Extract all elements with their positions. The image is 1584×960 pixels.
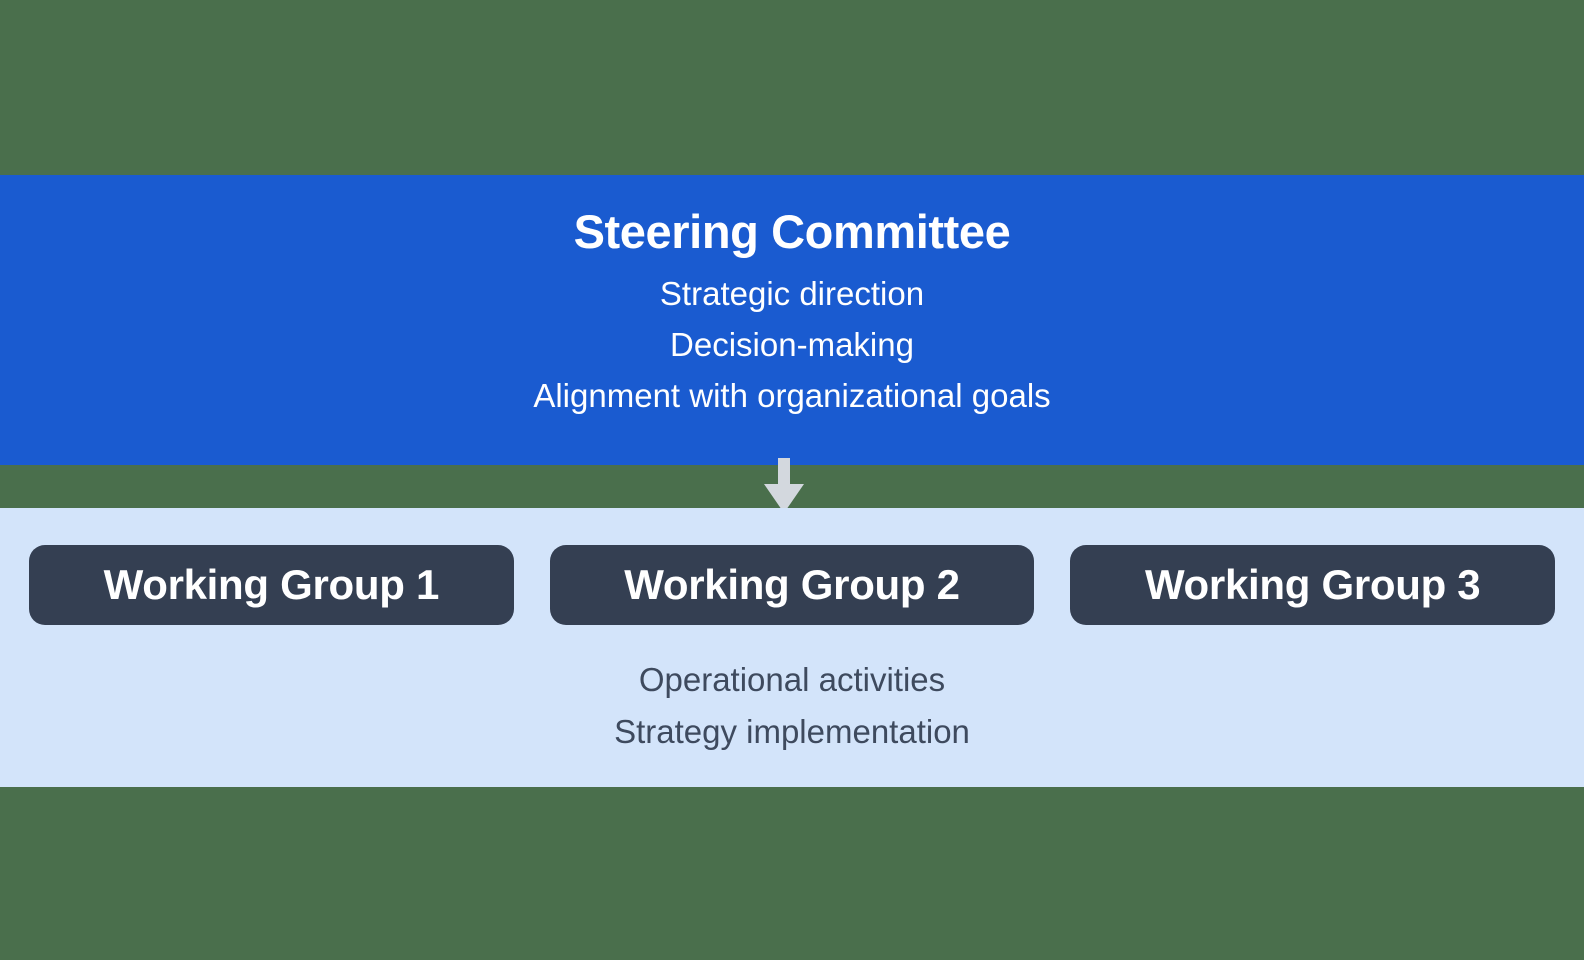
working-group-3-label: Working Group 3 — [1145, 564, 1480, 606]
working-group-responsibility-line: Operational activities — [639, 656, 945, 705]
steering-responsibility-line: Strategic direction — [660, 270, 924, 319]
arrow-down-icon — [763, 458, 805, 514]
working-group-responsibility-line: Strategy implementation — [614, 708, 970, 757]
working-group-2-box[interactable]: Working Group 2 — [550, 545, 1035, 625]
working-group-1-box[interactable]: Working Group 1 — [29, 545, 514, 625]
steering-responsibility-line: Decision-making — [670, 321, 914, 370]
working-group-2-label: Working Group 2 — [624, 564, 959, 606]
working-group-3-box[interactable]: Working Group 3 — [1070, 545, 1555, 625]
steering-responsibility-line: Alignment with organizational goals — [533, 372, 1050, 421]
working-groups-band: Working Group 1 Working Group 2 Working … — [0, 508, 1584, 787]
steering-committee-band: Steering Committee Strategic direction D… — [0, 175, 1584, 465]
working-groups-responsibilities: Operational activities Strategy implemen… — [0, 656, 1584, 757]
diagram-canvas: Steering Committee Strategic direction D… — [0, 0, 1584, 960]
steering-committee-responsibilities: Strategic direction Decision-making Alig… — [533, 270, 1050, 420]
working-group-1-label: Working Group 1 — [104, 564, 439, 606]
working-groups-row: Working Group 1 Working Group 2 Working … — [0, 545, 1584, 625]
steering-committee-title: Steering Committee — [574, 207, 1011, 256]
